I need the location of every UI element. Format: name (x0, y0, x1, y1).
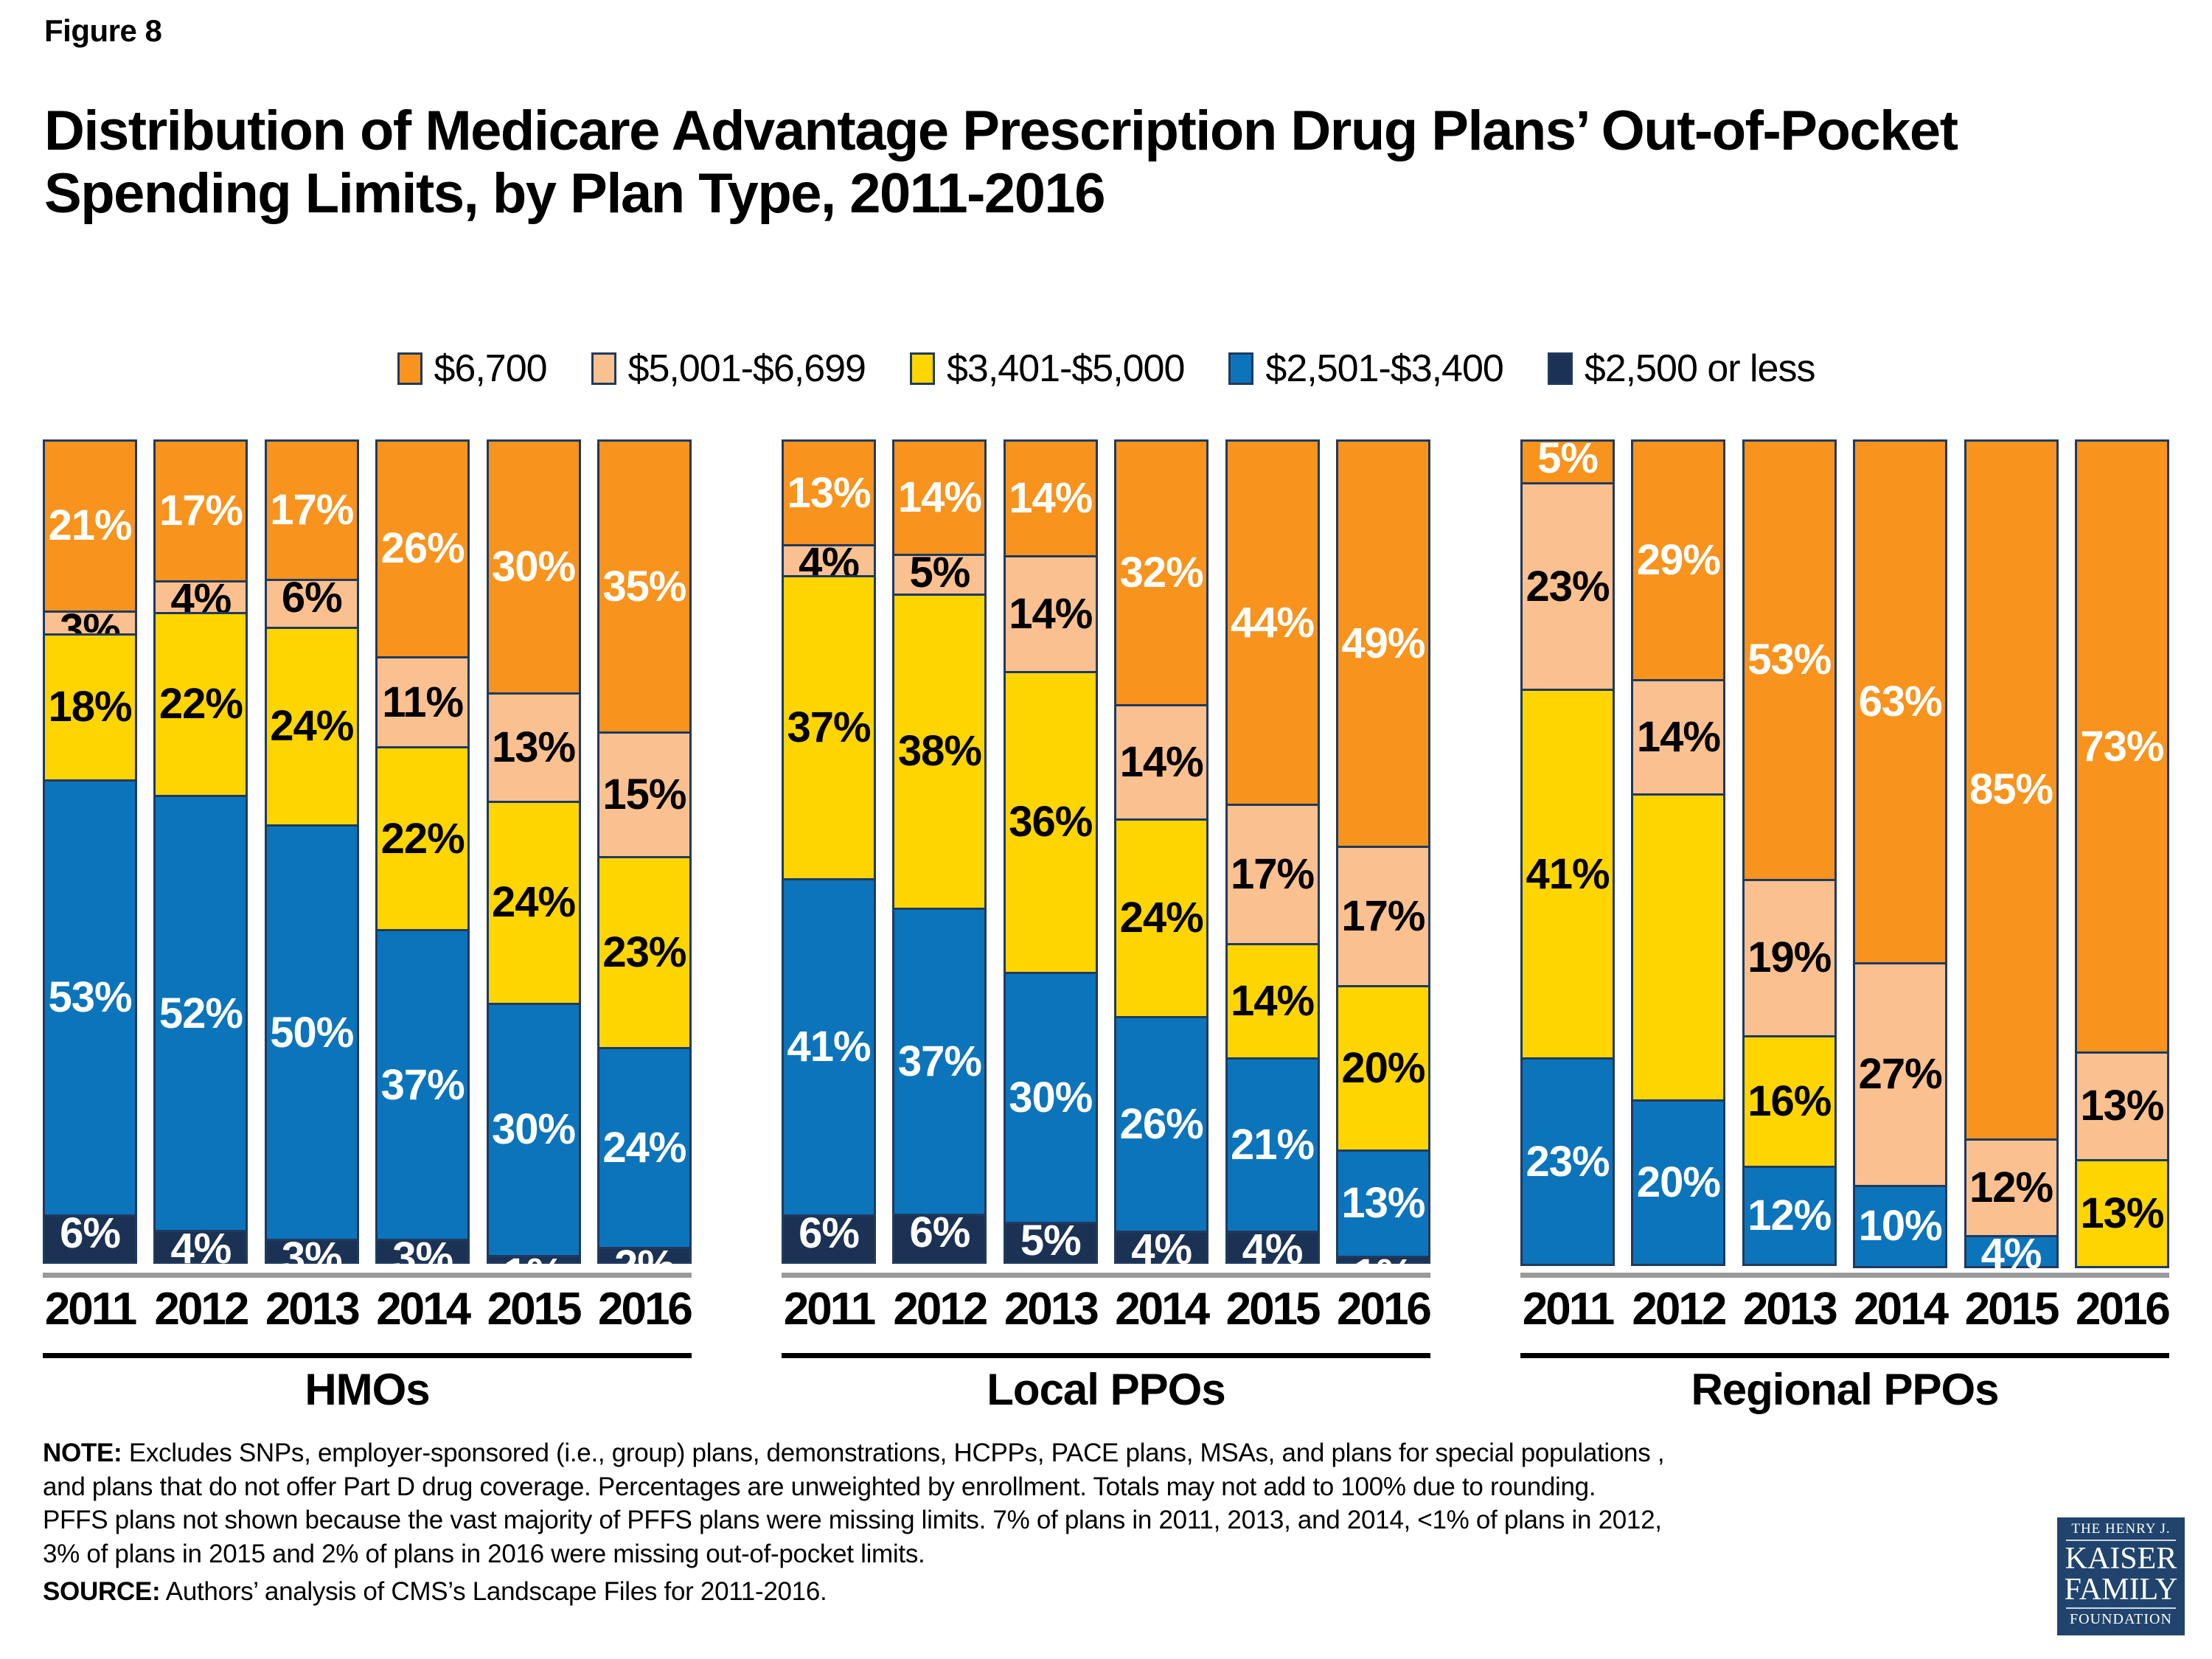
segment-value-label: 13% (2080, 1085, 2163, 1127)
segment-value-label: 24% (270, 705, 353, 748)
segment-value-label: 41% (787, 1026, 870, 1068)
page-title: Distribution of Medicare Advantage Presc… (44, 100, 2183, 225)
legend-swatch-icon (397, 352, 422, 385)
axis-baseline (782, 1273, 1430, 1278)
bar-segment[interactable]: 4% (782, 544, 876, 577)
segment-value-label: 11% (382, 681, 463, 724)
legend-item-3[interactable]: $2,501-$3,400 (1228, 347, 1503, 391)
segment-value-label: 6% (60, 1212, 120, 1255)
bar-segment[interactable]: 50% (265, 824, 359, 1241)
segment-value-label: 10% (1859, 1205, 1942, 1248)
segment-value-label: 14% (1009, 593, 1092, 636)
bar-segment[interactable]: 41% (782, 878, 876, 1217)
legend-swatch-icon (1548, 352, 1573, 385)
bar-segment[interactable]: 23% (1520, 1057, 1615, 1266)
segment-value-label: 22% (159, 683, 243, 726)
bar-segment[interactable]: 4% (1964, 1235, 2059, 1268)
segment-value-label: 5% (909, 552, 970, 594)
stacked-bar[interactable]: 14%5%38%37%6% (892, 439, 987, 1273)
bar-segment[interactable]: 20% (1336, 985, 1430, 1152)
stacked-bar[interactable]: 63%27%10% (1853, 439, 1947, 1273)
bar-segment[interactable]: 63% (1853, 439, 1947, 964)
segment-value-label: 26% (1120, 1103, 1203, 1146)
legend-label: $5,001-$6,699 (628, 347, 866, 391)
segment-value-label: 37% (381, 1064, 465, 1107)
axis-year-labels: 2011201220132014201520162011201220132014… (0, 1283, 2212, 1349)
axis-tick-label-2016: 2016 (1336, 1283, 1430, 1335)
group-divider (43, 1353, 692, 1358)
stacked-bar[interactable]: 53%19%16%12% (1742, 439, 1837, 1273)
legend-label: $2,501-$3,400 (1265, 347, 1503, 391)
segment-value-label: 17% (159, 490, 243, 532)
bar-segment[interactable]: 73% (2075, 439, 2169, 1054)
bar-segment[interactable]: 38% (892, 594, 987, 910)
bar-segment[interactable]: 52% (153, 795, 248, 1233)
segment-value-label: 24% (492, 881, 575, 924)
bar-segment[interactable]: 5% (1520, 439, 1615, 484)
segment-value-label: 13% (492, 726, 575, 769)
bar-segment[interactable] (1631, 793, 1725, 1102)
year-label-row: 201120122013201420152016 (782, 1283, 1430, 1335)
bar-group-hmos: 21%3%18%53%6%17%4%22%52%4%17%6%24%50%3%2… (43, 439, 692, 1273)
bar-segment[interactable]: 41% (1520, 689, 1615, 1060)
legend-item-2[interactable]: $3,401-$5,000 (910, 347, 1184, 391)
axis-tick-label-2011: 2011 (782, 1283, 876, 1335)
bar-segment[interactable]: 14% (1631, 679, 1725, 796)
logo-line-1: THE HENRY J. (2063, 1522, 2179, 1537)
bar-segment[interactable]: 17% (1225, 804, 1320, 945)
axis-tick-label-2016: 2016 (597, 1283, 692, 1335)
note-line-2: and plans that do not offer Part D drug … (43, 1470, 2034, 1504)
bar-segment[interactable]: 36% (1004, 671, 1098, 974)
bar-segment[interactable]: 23% (597, 856, 692, 1050)
segment-value-label: 30% (492, 546, 575, 588)
bar-segment[interactable]: 49% (1336, 439, 1430, 848)
bar-segment[interactable]: 37% (375, 929, 470, 1240)
bar-segment[interactable]: 17% (153, 439, 248, 582)
legend-item-4[interactable]: $2,500 or less (1548, 347, 1815, 391)
bar-segment[interactable]: 24% (1114, 818, 1208, 1018)
segment-value-label: 27% (1859, 1053, 1942, 1096)
segment-value-label: 2% (614, 1245, 675, 1287)
segment-value-label: 6% (799, 1212, 859, 1255)
bar-segment[interactable]: 23% (1520, 482, 1615, 691)
bar-segment[interactable]: 30% (487, 439, 581, 695)
legend-swatch-icon (1228, 352, 1253, 385)
bar-segment[interactable]: 32% (1114, 439, 1208, 706)
bar-segment[interactable]: 1% (487, 1255, 581, 1264)
bar-segment[interactable]: 13% (782, 439, 876, 546)
axis-baseline (43, 1273, 692, 1278)
source-line: SOURCE: Authors’ analysis of CMS’s Lands… (43, 1575, 2034, 1609)
segment-value-label: 14% (1637, 716, 1720, 759)
segment-value-label: 53% (1747, 639, 1831, 681)
bar-segment[interactable]: 20% (1631, 1099, 1725, 1266)
chart-legend: $6,700$5,001-$6,699$3,401-$5,000$2,501-$… (0, 347, 2212, 391)
segment-value-label: 4% (1242, 1228, 1303, 1271)
axis-tick-label-2013: 2013 (1004, 1283, 1098, 1335)
segment-value-label: 4% (170, 1228, 231, 1270)
group-divider (1520, 1353, 2169, 1358)
stacked-bar[interactable]: 35%15%23%24%2% (597, 439, 692, 1273)
figure-canvas: Figure 8 Distribution of Medicare Advant… (0, 0, 2212, 1659)
segment-value-label: 6% (909, 1211, 970, 1254)
segment-value-label: 53% (48, 976, 131, 1019)
stacked-bar[interactable]: 26%11%22%37%3% (375, 439, 470, 1273)
bar-segment[interactable]: 5% (892, 554, 987, 596)
legend-label: $6,700 (434, 347, 547, 391)
bar-segment[interactable]: 24% (597, 1047, 692, 1249)
segment-value-label: 15% (602, 773, 686, 816)
bar-segment[interactable]: 4% (1114, 1231, 1208, 1264)
bar-segment[interactable]: 18% (43, 633, 137, 782)
bar-segment[interactable]: 14% (1225, 943, 1320, 1060)
segment-value-label: 12% (1747, 1194, 1831, 1237)
segment-value-label: 5% (1537, 437, 1598, 480)
segment-value-label: 24% (602, 1127, 686, 1169)
group-label-hmos: HMOs (43, 1364, 692, 1415)
bar-segment[interactable]: 53% (43, 779, 137, 1217)
segment-value-label: 52% (159, 992, 243, 1035)
axis-tick-label-2012: 2012 (892, 1283, 987, 1335)
bar-segment[interactable]: 2% (597, 1247, 692, 1264)
legend-item-1[interactable]: $5,001-$6,699 (591, 347, 866, 391)
bar-segment[interactable]: 14% (892, 439, 987, 556)
bar-segment[interactable]: 13% (2075, 1159, 2169, 1268)
stacked-bar[interactable]: 44%17%14%21%4% (1225, 439, 1320, 1273)
bar-segment[interactable]: 4% (153, 1230, 248, 1264)
segment-value-label: 5% (1020, 1220, 1081, 1262)
segment-value-label: 4% (1131, 1228, 1192, 1271)
bar-segment[interactable]: 12% (1742, 1166, 1837, 1266)
stacked-bar[interactable]: 30%13%24%30%1% (487, 439, 581, 1273)
bar-segment[interactable]: 21% (43, 439, 137, 613)
stacked-bar[interactable]: 17%4%22%52%4% (153, 439, 248, 1273)
stacked-bar[interactable]: 21%3%18%53%6% (43, 439, 137, 1273)
bar-segment[interactable]: 13% (487, 692, 581, 803)
segment-value-label: 37% (898, 1040, 981, 1083)
stacked-bar[interactable]: 14%14%36%30%5% (1004, 439, 1098, 1273)
stacked-bar[interactable]: 17%6%24%50%3% (265, 439, 359, 1273)
bar-segment[interactable]: 19% (1742, 879, 1837, 1037)
stacked-bar[interactable]: 32%14%24%26%4% (1114, 439, 1208, 1273)
bar-segment[interactable]: 11% (375, 656, 470, 749)
source-label: SOURCE: (43, 1577, 160, 1606)
bar-segment[interactable]: 37% (782, 575, 876, 880)
legend-item-0[interactable]: $6,700 (397, 347, 547, 391)
note-line-3: PFFS plans not shown because the vast ma… (43, 1503, 2034, 1537)
bar-segment[interactable]: 3% (375, 1239, 470, 1264)
bar-group-local-ppos: 13%4%37%41%6%14%5%38%37%6%14%14%36%30%5%… (782, 439, 1430, 1273)
segment-value-label: 14% (1120, 741, 1203, 784)
segment-value-label: 85% (1969, 768, 2053, 811)
bar-segment[interactable]: 22% (375, 746, 470, 931)
bar-segment[interactable]: 30% (1004, 972, 1098, 1224)
axis-tick-label-2014: 2014 (1853, 1283, 1947, 1335)
stacked-bar[interactable]: 73%13%13% (2075, 439, 2169, 1273)
axis-tick-label-2015: 2015 (1225, 1283, 1320, 1335)
logo-rule-top (2066, 1540, 2176, 1541)
bar-segment[interactable]: 10% (1853, 1185, 1947, 1268)
segment-value-label: 17% (1341, 895, 1425, 938)
segment-value-label: 6% (282, 577, 342, 619)
segment-value-label: 18% (48, 686, 131, 728)
segment-value-label: 14% (1231, 980, 1314, 1023)
segment-value-label: 23% (1526, 1141, 1609, 1183)
segment-value-label: 12% (1969, 1166, 2053, 1209)
bar-segment[interactable]: 13% (2075, 1051, 2169, 1161)
bar-segment[interactable]: 14% (1114, 704, 1208, 821)
logo-line-2: KAISER (2063, 1543, 2179, 1574)
segment-value-label: 19% (1747, 936, 1831, 979)
group-divider (782, 1353, 1430, 1358)
legend-swatch-icon (910, 352, 935, 385)
figure-number: Figure 8 (44, 13, 161, 49)
kaiser-family-foundation-logo: THE HENRY J. KAISER FAMILY FOUNDATION (2057, 1517, 2185, 1635)
segment-value-label: 17% (270, 489, 353, 532)
segment-value-label: 41% (1526, 853, 1609, 896)
segment-value-label: 13% (2080, 1192, 2163, 1235)
axis-tick-label-2014: 2014 (1114, 1283, 1208, 1335)
stacked-bar[interactable]: 29%14%20% (1631, 439, 1725, 1273)
axis-tick-label-2016: 2016 (2075, 1283, 2169, 1335)
axis-tick-label-2015: 2015 (487, 1283, 581, 1335)
bar-segment[interactable]: 14% (1004, 439, 1098, 557)
segment-value-label: 73% (2080, 726, 2163, 768)
bar-segment[interactable]: 17% (1336, 846, 1430, 987)
segment-value-label: 17% (1231, 853, 1314, 896)
segment-value-label: 21% (1231, 1124, 1314, 1166)
bar-segment[interactable]: 13% (1336, 1150, 1430, 1258)
axis-tick-label-2011: 2011 (1520, 1283, 1615, 1335)
segment-value-label: 23% (1526, 566, 1609, 608)
segment-value-label: 13% (787, 472, 870, 515)
legend-swatch-icon (591, 352, 616, 385)
segment-value-label: 37% (787, 706, 870, 749)
segment-value-label: 14% (898, 476, 981, 519)
segment-value-label: 30% (492, 1108, 575, 1151)
bar-segment[interactable]: 37% (892, 908, 987, 1216)
legend-label: $3,401-$5,000 (947, 347, 1184, 391)
segment-value-label: 32% (1120, 552, 1203, 594)
legend-label: $2,500 or less (1585, 347, 1815, 391)
bar-segment[interactable]: 3% (43, 611, 137, 636)
segment-value-label: 21% (48, 504, 131, 547)
stacked-bar[interactable]: 49%17%20%13%1% (1336, 439, 1430, 1273)
bar-segment[interactable]: 3% (265, 1239, 359, 1264)
segment-value-label: 24% (1120, 897, 1203, 939)
logo-line-3: FAMILY (2063, 1574, 2179, 1605)
year-label-row: 201120122013201420152016 (1520, 1283, 2169, 1335)
segment-value-label: 20% (1637, 1161, 1720, 1204)
segment-value-label: 29% (1637, 539, 1720, 582)
segment-value-label: 23% (602, 931, 686, 974)
segment-value-label: 30% (1009, 1077, 1092, 1119)
bar-segment[interactable]: 6% (265, 579, 359, 629)
axis-tick-label-2012: 2012 (1631, 1283, 1725, 1335)
bar-segment[interactable]: 26% (375, 439, 470, 658)
segment-value-label: 20% (1341, 1047, 1425, 1090)
segment-value-label: 44% (1231, 602, 1314, 644)
bar-segment[interactable]: 29% (1631, 439, 1725, 681)
bar-segment[interactable]: 1% (1336, 1256, 1430, 1264)
segment-value-label: 26% (381, 527, 465, 570)
segment-value-label: 50% (270, 1012, 353, 1054)
group-label-regional-ppos: Regional PPOs (1520, 1364, 2169, 1415)
axis-tick-label-2012: 2012 (153, 1283, 248, 1335)
axis-tick-label-2015: 2015 (1964, 1283, 2059, 1335)
segment-value-label: 13% (1341, 1182, 1425, 1225)
segment-value-label: 14% (1009, 477, 1092, 520)
bar-segment[interactable]: 6% (43, 1214, 137, 1264)
bar-segment[interactable]: 12% (1964, 1138, 2059, 1237)
bar-segment[interactable]: 85% (1964, 439, 2059, 1141)
bar-segment[interactable]: 21% (1225, 1057, 1320, 1232)
chart-axis (0, 1273, 2212, 1279)
axis-tick-label-2011: 2011 (43, 1283, 137, 1335)
axis-tick-label-2013: 2013 (1742, 1283, 1837, 1335)
stacked-bar[interactable]: 13%4%37%41%6% (782, 439, 876, 1273)
bar-segment[interactable]: 16% (1742, 1035, 1837, 1169)
bar-segment[interactable]: 4% (153, 580, 248, 614)
bar-segment[interactable]: 6% (892, 1214, 987, 1264)
bar-segment[interactable]: 17% (265, 439, 359, 581)
segment-value-label: 49% (1341, 622, 1425, 665)
bar-segment[interactable]: 14% (1004, 555, 1098, 673)
bar-segment[interactable]: 24% (265, 627, 359, 827)
bar-group-regional-ppos: 5%23%41%23%29%14%20%53%19%16%12%63%27%10… (1520, 439, 2169, 1273)
bar-segment[interactable]: 35% (597, 439, 692, 734)
segment-value-label: 63% (1859, 681, 1942, 723)
bar-segment[interactable]: 15% (597, 731, 692, 858)
bar-segment[interactable]: 22% (153, 612, 248, 797)
note-label: NOTE: (43, 1439, 122, 1467)
logo-line-4: FOUNDATION (2063, 1611, 2179, 1628)
group-label-local-ppos: Local PPOs (782, 1364, 1430, 1415)
axis-baseline (1520, 1273, 2169, 1278)
bar-segment[interactable]: 4% (1225, 1231, 1320, 1264)
bar-segment[interactable]: 24% (487, 801, 581, 1005)
segment-value-label: 36% (1009, 801, 1092, 844)
segment-value-label: 38% (898, 730, 981, 773)
bar-segment[interactable]: 30% (487, 1003, 581, 1258)
footnotes: NOTE: Excludes SNPs, employer-sponsored … (43, 1436, 2034, 1609)
logo-rule-bottom (2066, 1607, 2176, 1609)
segment-value-label: 22% (381, 818, 465, 860)
axis-tick-label-2014: 2014 (375, 1283, 470, 1335)
bar-segment[interactable]: 53% (1742, 439, 1837, 881)
note-line-1: NOTE: Excludes SNPs, employer-sponsored … (43, 1436, 2034, 1470)
segment-value-label: 16% (1747, 1080, 1831, 1123)
bar-segment[interactable]: 27% (1853, 962, 1947, 1187)
stacked-bar[interactable]: 5%23%41%23% (1520, 439, 1615, 1273)
axis-tick-label-2013: 2013 (265, 1283, 359, 1335)
stacked-bar[interactable]: 85%12%4% (1964, 439, 2059, 1273)
bar-segment[interactable]: 5% (1004, 1222, 1098, 1264)
year-label-row: 201120122013201420152016 (43, 1283, 692, 1335)
bar-segment[interactable]: 26% (1114, 1016, 1208, 1233)
bar-segment[interactable]: 44% (1225, 439, 1320, 806)
segment-value-label: 4% (1981, 1233, 2042, 1276)
bar-segment[interactable]: 6% (782, 1214, 876, 1264)
segment-value-label: 35% (602, 566, 686, 608)
chart-plot-area: 21%3%18%53%6%17%4%22%52%4%17%6%24%50%3%2… (0, 439, 2212, 1273)
note-line-4: 3% of plans in 2015 and 2% of plans in 2… (43, 1537, 2034, 1571)
